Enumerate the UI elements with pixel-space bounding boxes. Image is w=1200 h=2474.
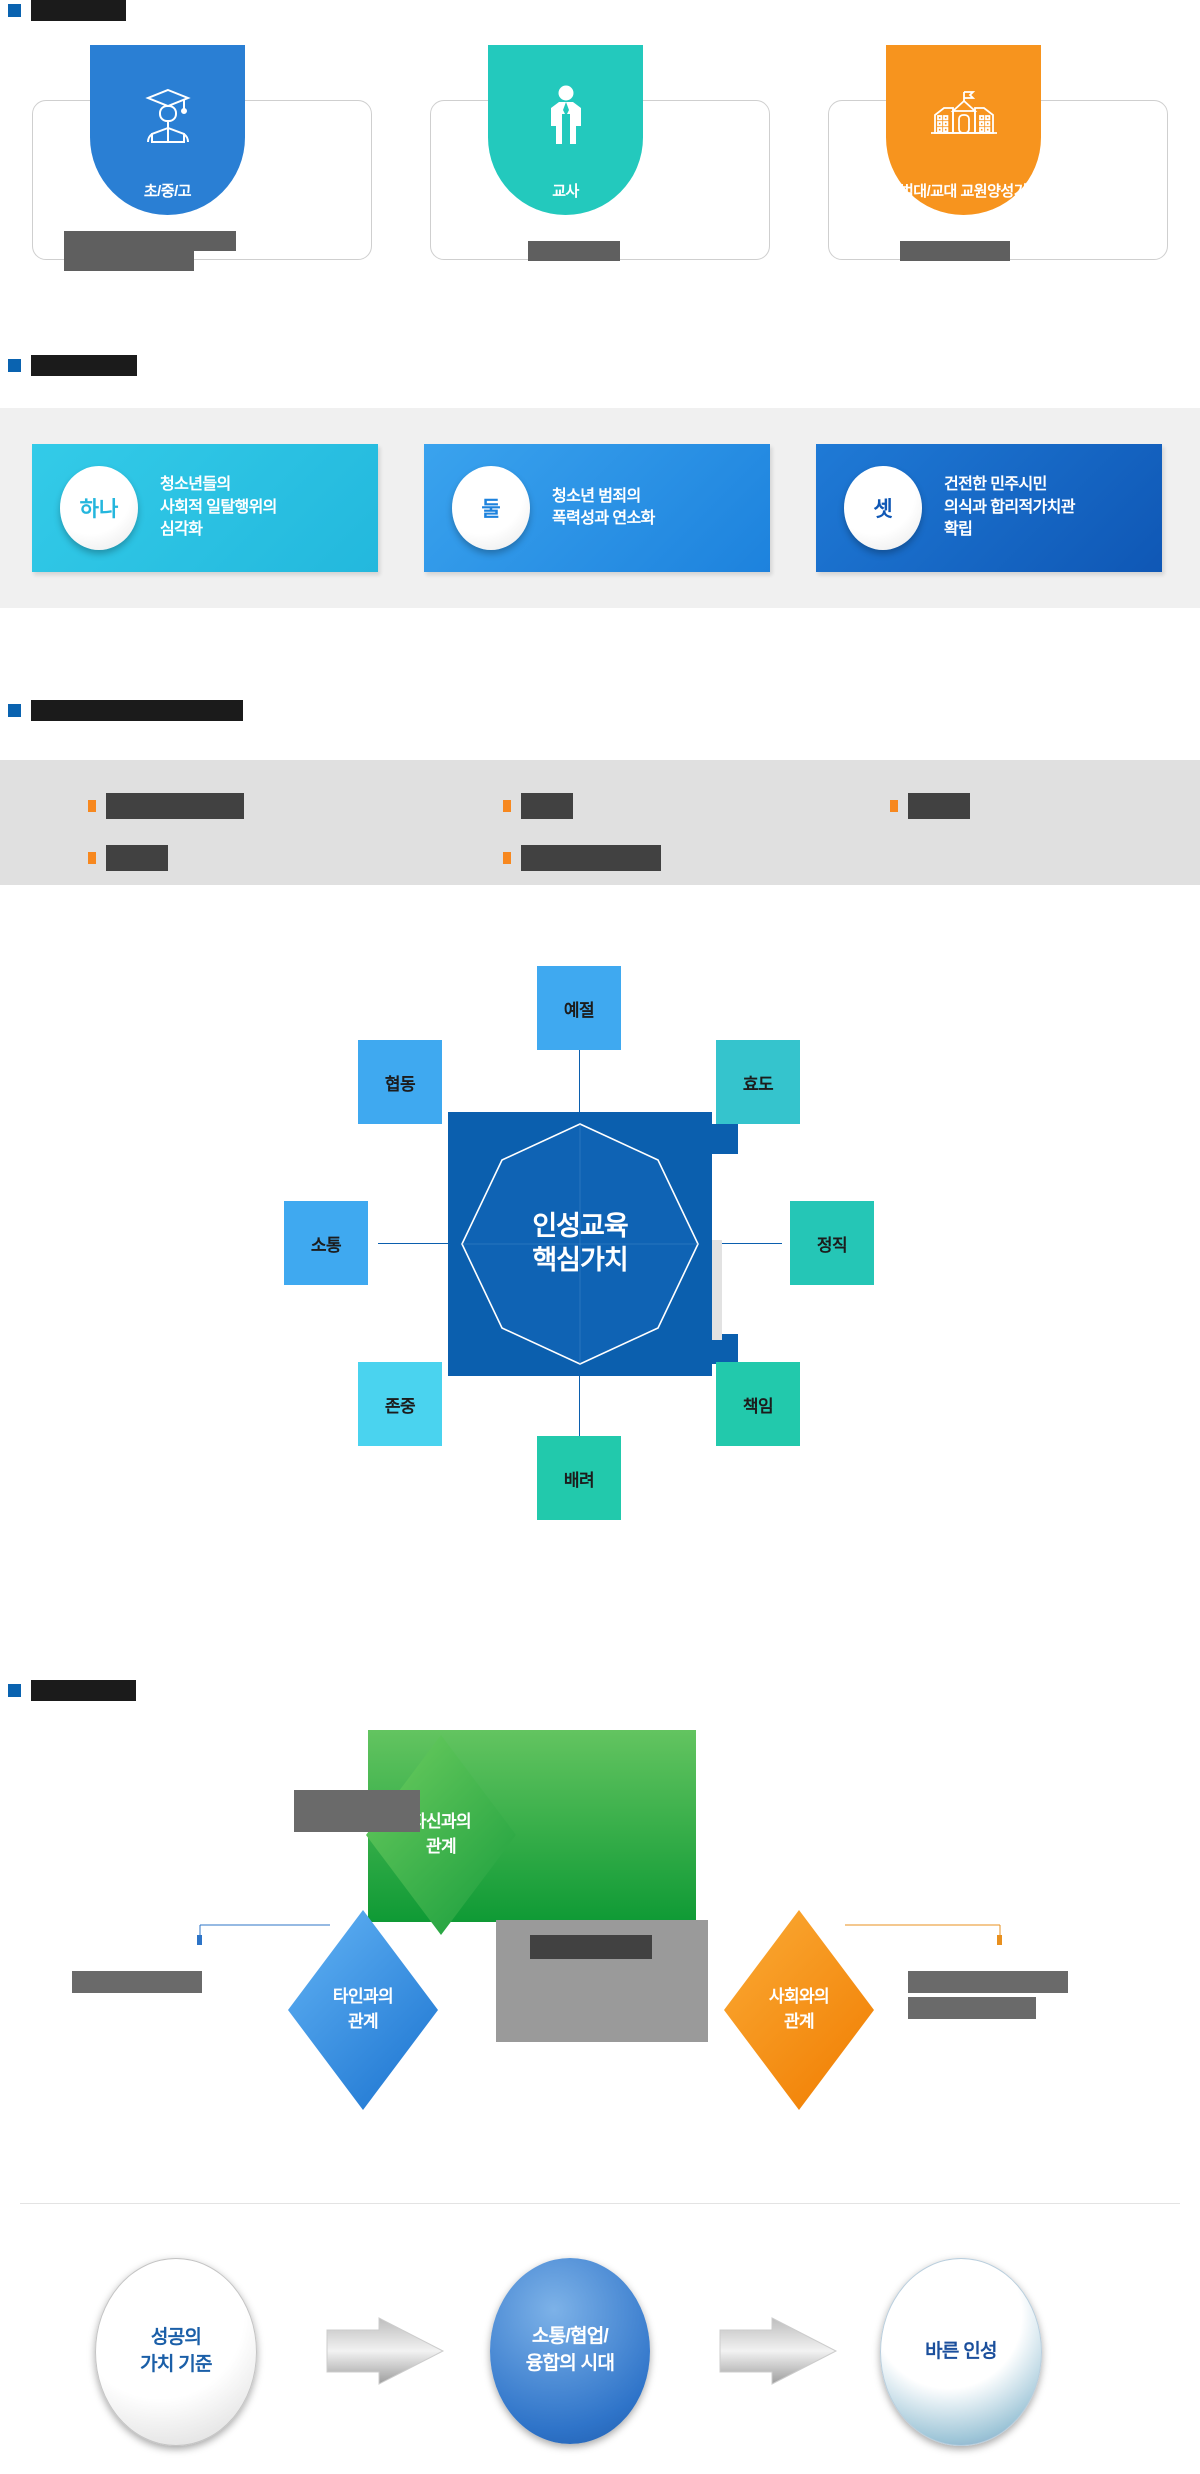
section-bullet-icon (8, 4, 21, 17)
green-note-redacted (294, 1790, 420, 1832)
right-note-redacted-2 (908, 1997, 1036, 2019)
section-1-title-redacted (31, 0, 126, 21)
value-box-bottom[interactable]: 배려 (537, 1436, 621, 1520)
bullet-square-icon (503, 800, 511, 812)
section-divider (20, 2203, 1180, 2204)
section-2-title-redacted (31, 355, 137, 376)
graduate-student-icon (90, 45, 245, 184)
section-1-audience-cards: 초/중/고 교사 (0, 55, 1200, 285)
section-3-bullet-band (0, 760, 1200, 885)
list-item[interactable] (503, 845, 661, 871)
need-card-3[interactable]: 셋 건전한 민주시민 의식과 합리적가치관 확립 (816, 444, 1162, 572)
bullet-square-icon (88, 800, 96, 812)
list-item-text-redacted (106, 845, 168, 871)
section-3-heading (8, 700, 243, 721)
section-bullet-icon (8, 359, 21, 372)
need-card-1[interactable]: 하나 청소년들의 사회적 일탈행위의 심각화 (32, 444, 378, 572)
diamond-label: 타인과의 관계 (333, 1985, 393, 2034)
need-card-1-text: 청소년들의 사회적 일탈행위의 심각화 (160, 474, 277, 541)
value-label: 배려 (564, 1466, 594, 1491)
connector-left (378, 1243, 452, 1244)
section-5-heading (8, 1680, 136, 1701)
value-label: 협동 (385, 1070, 415, 1095)
section-2-heading (8, 355, 137, 376)
bullet-square-icon (503, 852, 511, 864)
value-box-left[interactable]: 소통 (284, 1201, 368, 1285)
need-card-3-number: 셋 (844, 466, 922, 550)
value-label: 소통 (311, 1231, 341, 1256)
section-bullet-icon (8, 1684, 21, 1697)
value-label: 책임 (743, 1392, 773, 1417)
section-6-flow-diagram: 성공의 가치 기준 소통/협업/ 융합의 시대 바른 인성 (0, 2258, 1200, 2448)
value-label: 정직 (817, 1231, 847, 1256)
poster-page: 초/중/고 교사 (0, 0, 1200, 2474)
section-1-heading (8, 0, 126, 21)
flow-step-3-label: 바른 인성 (925, 2339, 997, 2366)
right-note-redacted-1 (908, 1971, 1068, 1993)
card-1-text-redacted-line-1 (64, 231, 236, 251)
value-box-top-left[interactable]: 협동 (358, 1040, 442, 1124)
card-1-text-redacted-line-2 (64, 251, 194, 271)
school-building-icon (886, 45, 1041, 184)
flow-step-2[interactable]: 소통/협업/ 융합의 시대 (490, 2258, 650, 2444)
value-box-bottom-right[interactable]: 책임 (716, 1362, 800, 1446)
flow-step-1-label: 성공의 가치 기준 (140, 2325, 212, 2379)
section-3-title-redacted (31, 700, 243, 721)
flow-step-2-label: 소통/협업/ 융합의 시대 (526, 2324, 614, 2378)
value-label: 존중 (385, 1392, 415, 1417)
need-card-2-text: 청소년 범죄의 폭력성과 연소화 (552, 486, 655, 531)
value-box-top[interactable]: 예절 (537, 966, 621, 1050)
value-box-right[interactable]: 정직 (790, 1201, 874, 1285)
flow-step-1[interactable]: 성공의 가치 기준 (95, 2258, 257, 2446)
list-item-text-redacted (521, 793, 573, 819)
bullet-square-icon (88, 852, 96, 864)
section-2-need-cards: 하나 청소년들의 사회적 일탈행위의 심각화 둘 청소년 범죄의 폭력성과 연소… (0, 408, 1200, 608)
corner-tab-top-right (708, 1124, 738, 1154)
section-bullet-icon (8, 704, 21, 717)
value-box-bottom-left[interactable]: 존중 (358, 1362, 442, 1446)
shield-label-2: 교사 (552, 184, 579, 201)
core-label: 인성교육 핵심가치 (448, 1112, 712, 1376)
diamond-label: 사회와의 관계 (769, 1985, 829, 2034)
list-item-text-redacted (106, 793, 244, 819)
need-card-2[interactable]: 둘 청소년 범죄의 폭력성과 연소화 (424, 444, 770, 572)
section-4-core-values-diagram: 인성교육 핵심가치 예절 효도 정직 책임 배려 존중 소통 협동 (0, 900, 1200, 1600)
shield-badge-university[interactable]: 사범대/교대 교원양성기관 (886, 45, 1041, 215)
bullet-square-icon (890, 800, 898, 812)
section-5-relationship-diagram: 자신과의 관계 타인과의 관계 사회와의 관계 (0, 1735, 1200, 1995)
shield-badge-students[interactable]: 초/중/고 (90, 45, 245, 215)
list-item-text-redacted (908, 793, 970, 819)
section-5-title-redacted (31, 1680, 136, 1701)
shield-label-3: 사범대/교대 교원양성기관 (887, 184, 1041, 201)
list-item[interactable] (890, 793, 970, 819)
list-item[interactable] (88, 845, 168, 871)
center-note-redacted (530, 1935, 652, 1959)
list-item-text-redacted (521, 845, 661, 871)
arrow-right-icon (718, 2316, 838, 2386)
teacher-person-icon (488, 45, 643, 184)
connector-bottom (579, 1370, 580, 1440)
shield-label-1: 초/중/고 (144, 184, 191, 201)
list-item[interactable] (503, 793, 573, 819)
card-2-text-redacted (528, 241, 620, 261)
need-card-3-text: 건전한 민주시민 의식과 합리적가치관 확립 (944, 474, 1075, 541)
need-card-1-number: 하나 (60, 466, 138, 550)
arrow-right-icon (325, 2316, 445, 2386)
list-item[interactable] (88, 793, 244, 819)
value-label: 예절 (564, 996, 594, 1021)
value-label: 효도 (743, 1070, 773, 1095)
need-card-2-number: 둘 (452, 466, 530, 550)
connector-top (579, 1050, 580, 1120)
left-note-redacted (72, 1971, 202, 1993)
shield-badge-teacher[interactable]: 교사 (488, 45, 643, 215)
value-box-top-right[interactable]: 효도 (716, 1040, 800, 1124)
card-3-text-redacted (900, 241, 1010, 261)
flow-step-3[interactable]: 바른 인성 (880, 2258, 1042, 2446)
